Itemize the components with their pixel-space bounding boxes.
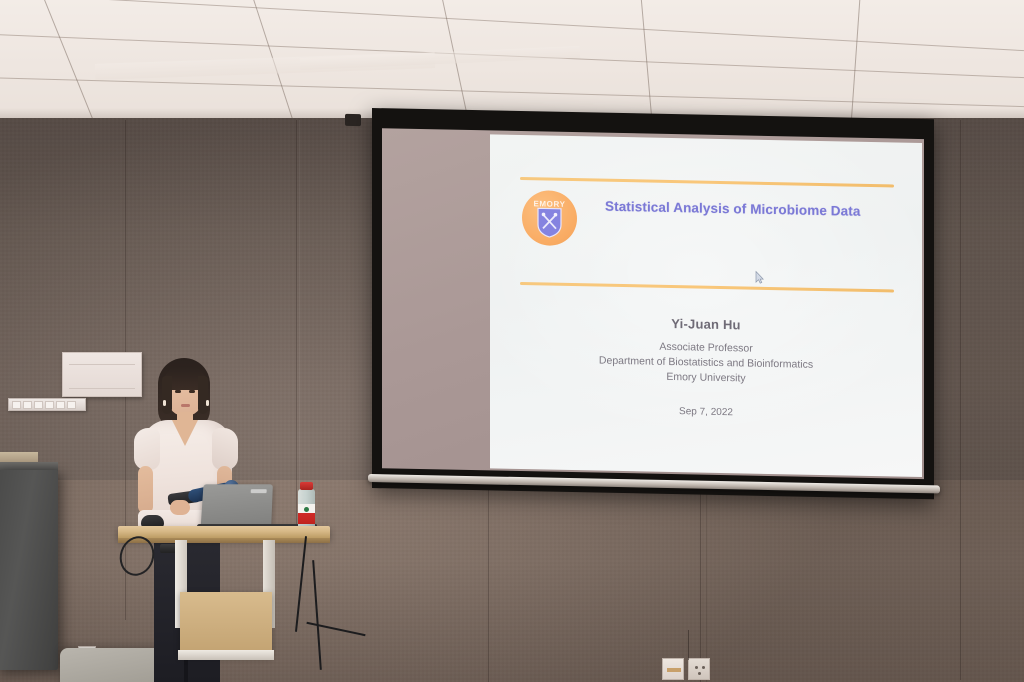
- emory-shield-icon: [537, 207, 562, 238]
- wall-seam: [299, 120, 300, 540]
- mouth: [181, 404, 190, 407]
- outlet-conduit: [688, 630, 689, 660]
- sleeve-right: [212, 428, 238, 470]
- wall-seam: [296, 120, 297, 540]
- sleeve-left: [134, 428, 160, 470]
- photo-scene: EMORY Statistical Analysis of Microbiome…: [0, 0, 1024, 682]
- screen-surface: EMORY Statistical Analysis of Microbiome…: [382, 128, 924, 479]
- screen-mount-bracket: [345, 114, 361, 126]
- presentation-slide: EMORY Statistical Analysis of Microbiome…: [490, 134, 922, 477]
- wall-seam: [706, 492, 707, 682]
- earring-left: [163, 400, 166, 406]
- dark-floor-cabinet: [0, 470, 58, 670]
- slide-body: Yi-Juan Hu Associate Professor Departmen…: [510, 313, 902, 422]
- desk-foot: [178, 650, 274, 660]
- outlet-plate-right[interactable]: [688, 658, 710, 680]
- bottle-label-mark: [304, 507, 309, 512]
- wall-outlet-group[interactable]: [662, 658, 710, 680]
- socket-icon: [34, 401, 43, 409]
- mouse-pointer-icon: [755, 271, 764, 284]
- slide-rule-bottom: [520, 282, 894, 293]
- desk-shelf: [180, 592, 272, 656]
- bottle-cap: [300, 482, 313, 490]
- slide-date: Sep 7, 2022: [510, 403, 902, 422]
- arm-left: [138, 466, 153, 514]
- slide-rule-top: [520, 177, 894, 188]
- wall-power-strip[interactable]: [8, 398, 86, 411]
- outlet-plate-left[interactable]: [662, 658, 684, 680]
- socket-icon: [56, 401, 65, 409]
- slide-title: Statistical Analysis of Microbiome Data: [605, 199, 905, 220]
- socket-icon: [67, 401, 76, 409]
- hair-side-left: [162, 376, 172, 414]
- socket-icon: [12, 401, 21, 409]
- hand-left: [170, 500, 190, 515]
- laptop-logo: [251, 489, 267, 493]
- wall-seam: [488, 486, 489, 682]
- wall-seam: [700, 492, 701, 682]
- hair-side-right: [198, 376, 208, 414]
- presenter-name: Yi-Juan Hu: [510, 313, 902, 336]
- wall-seam: [960, 120, 961, 680]
- projection-screen: EMORY Statistical Analysis of Microbiome…: [372, 108, 934, 499]
- emory-logo-icon: EMORY: [522, 190, 577, 246]
- earring-right: [206, 400, 209, 406]
- socket-icon: [45, 401, 54, 409]
- socket-icon: [23, 401, 32, 409]
